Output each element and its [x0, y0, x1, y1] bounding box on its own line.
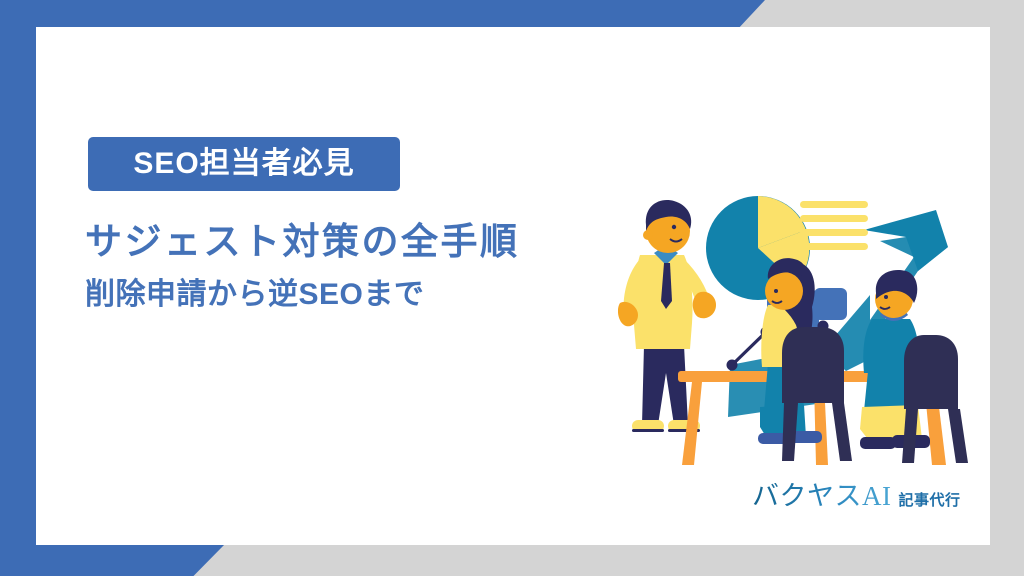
slide-canvas: SEO担当者必見 サジェスト対策の全手順 削除申請から逆SEOまで バクヤスAI… — [0, 0, 1024, 576]
brand-logo: バクヤスAI 記事代行 — [752, 483, 961, 510]
brand-logo-mark: バクヤスAI — [752, 483, 892, 510]
page-title: サジェスト対策の全手順 — [85, 219, 520, 264]
bottom-accent-bar — [0, 544, 225, 576]
badge-label: SEO担当者必見 — [133, 149, 354, 179]
presenter-figure — [618, 200, 716, 432]
left-accent-bar — [0, 0, 36, 576]
business-presentation-illustration — [618, 175, 990, 465]
page-subtitle: 削除申請から逆SEOまで — [85, 275, 424, 314]
status-badge: SEO担当者必見 — [88, 137, 400, 191]
yellow-bar-rows — [800, 201, 868, 250]
top-accent-bar — [0, 0, 765, 27]
brand-logo-subtitle: 記事代行 — [899, 493, 961, 508]
